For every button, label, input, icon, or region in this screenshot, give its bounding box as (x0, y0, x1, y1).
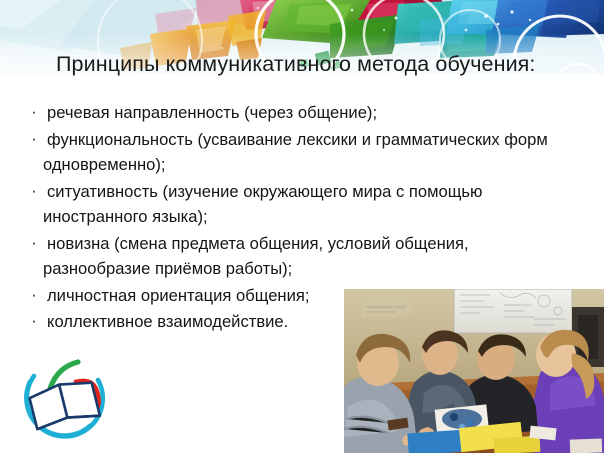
bullet-marker-icon: · (25, 230, 43, 256)
bullet-marker-icon: · (25, 99, 43, 125)
bullet-marker-icon: · (25, 308, 43, 334)
classroom-photo-illustration (344, 289, 604, 453)
classroom-photo (344, 289, 604, 453)
bullet-marker-icon: · (25, 282, 43, 308)
bullet-marker-icon: · (25, 126, 43, 152)
banner-shapes (0, 0, 604, 96)
list-item: · функциональность (усваивание лексики и… (25, 127, 565, 178)
page-title: Принципы коммуникативного метода обучени… (56, 52, 556, 77)
bullet-marker-icon: · (25, 178, 43, 204)
decorative-header-banner (0, 0, 604, 96)
open-book-logo (12, 352, 120, 450)
list-item: · речевая направленность (через общение)… (25, 100, 565, 126)
open-book-logo-graphic (12, 352, 120, 450)
list-item-label: новизна (смена предмета общения, условий… (43, 231, 565, 282)
list-item-label: речевая направленность (через общение); (43, 100, 565, 126)
slide-canvas: Принципы коммуникативного метода обучени… (0, 0, 604, 453)
list-item: · ситуативность (изучение окружающего ми… (25, 179, 565, 230)
list-item: · новизна (смена предмета общения, услов… (25, 231, 565, 282)
list-item-label: ситуативность (изучение окружающего мира… (43, 179, 565, 230)
list-item-label: функциональность (усваивание лексики и г… (43, 127, 565, 178)
